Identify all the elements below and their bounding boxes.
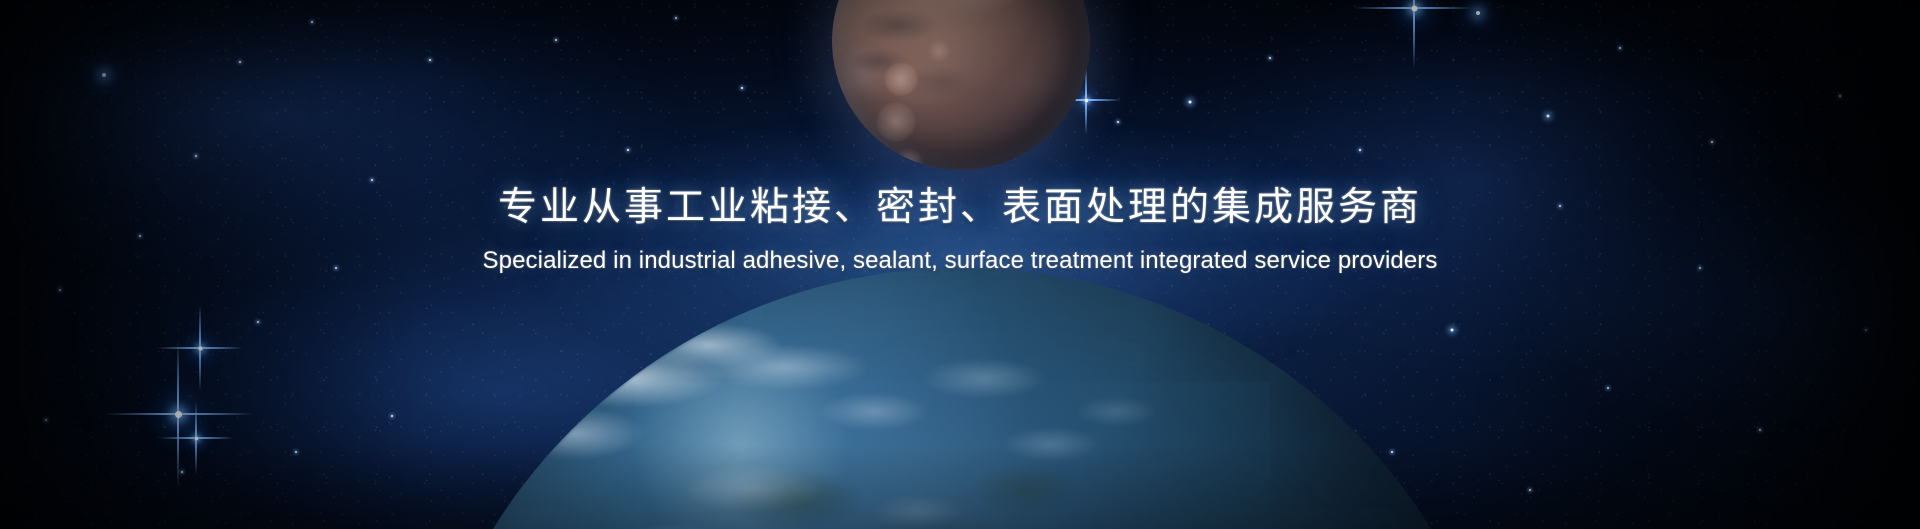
star [1839, 95, 1841, 97]
star [391, 415, 393, 417]
star [555, 39, 557, 41]
star [181, 471, 183, 473]
earth-planet [410, 268, 1514, 529]
star [102, 73, 106, 77]
hero-copy: 专业从事工业粘接、密封、表面处理的集成服务商 Specialized in in… [0, 185, 1920, 275]
star [257, 321, 259, 323]
star [1391, 451, 1393, 453]
star [627, 149, 629, 151]
upper-planet [832, 0, 1090, 170]
star [1759, 429, 1761, 431]
star [1117, 121, 1119, 123]
star [59, 289, 61, 291]
star [1359, 149, 1361, 151]
star [429, 59, 431, 61]
star [1547, 115, 1550, 118]
star [1451, 329, 1454, 332]
star [1269, 57, 1271, 59]
star [1607, 387, 1609, 389]
headline-chinese: 专业从事工业粘接、密封、表面处理的集成服务商 [0, 185, 1920, 231]
star [311, 21, 313, 23]
star [1189, 101, 1192, 104]
star [1476, 11, 1480, 15]
star [1711, 141, 1713, 143]
star [1619, 47, 1621, 49]
headline-english: Specialized in industrial adhesive, seal… [0, 247, 1920, 275]
star [371, 179, 373, 181]
star [1529, 489, 1531, 491]
star [239, 61, 241, 63]
hero-banner: 专业从事工业粘接、密封、表面处理的集成服务商 Specialized in in… [0, 0, 1920, 529]
earth-atmosphere [410, 268, 1514, 529]
star [675, 17, 677, 19]
star [295, 451, 297, 453]
star [195, 155, 197, 157]
upper-planet-rim-light [832, 0, 1090, 170]
star [45, 419, 47, 421]
star [1865, 329, 1867, 331]
star [741, 87, 743, 89]
